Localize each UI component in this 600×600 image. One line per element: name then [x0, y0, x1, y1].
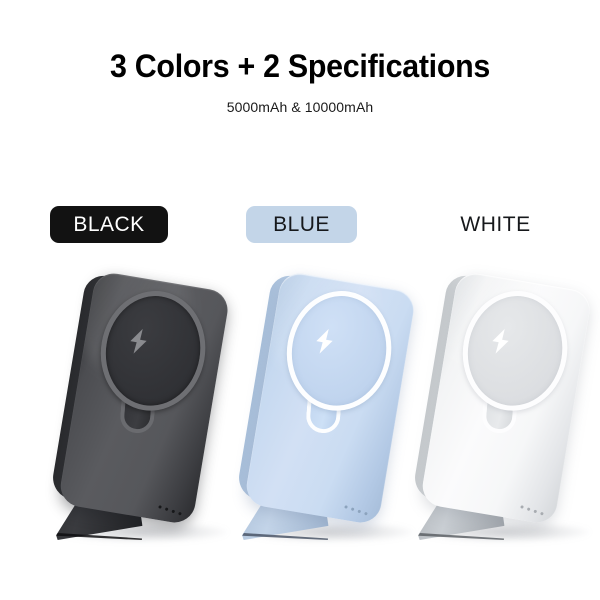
- led-indicator-row: [344, 505, 368, 515]
- page-title: 3 Colors + 2 Specifications: [15, 48, 585, 85]
- led-dot: [357, 510, 361, 514]
- color-label-black[interactable]: BLACK: [50, 206, 168, 243]
- led-dot: [171, 510, 175, 514]
- ring-outer-band: [92, 283, 214, 419]
- led-dot: [520, 505, 524, 509]
- led-dot: [533, 510, 537, 514]
- power-bank-body-black: [57, 270, 230, 527]
- ring-outer-band: [454, 283, 576, 419]
- lightning-bolt-icon: [311, 327, 337, 356]
- led-indicator-row: [520, 505, 544, 515]
- product-image-canvas: 3 Colors + 2 Specifications 5000mAh & 10…: [0, 0, 600, 600]
- lightning-bolt-icon: [125, 327, 151, 356]
- magsafe-charging-ring: [278, 283, 400, 419]
- led-dot: [351, 507, 355, 511]
- page-subtitle: 5000mAh & 10000mAh: [0, 99, 600, 115]
- product-unit-black[interactable]: [42, 278, 242, 548]
- ring-outer-band: [278, 283, 400, 419]
- power-bank-body-white: [419, 270, 592, 527]
- led-indicator-row: [158, 505, 182, 515]
- led-dot: [344, 505, 348, 509]
- color-label-blue[interactable]: BLUE: [246, 206, 357, 243]
- led-dot: [165, 507, 169, 511]
- power-bank-body-blue: [243, 270, 416, 527]
- color-label-white-text: WHITE: [460, 213, 530, 237]
- color-label-black-text: BLACK: [73, 213, 144, 237]
- led-dot: [158, 505, 162, 509]
- lightning-bolt-icon: [487, 327, 513, 356]
- product-unit-white[interactable]: [404, 278, 600, 548]
- led-dot: [178, 512, 182, 516]
- magsafe-charging-ring: [92, 283, 214, 419]
- magsafe-charging-ring: [454, 283, 576, 419]
- color-label-white[interactable]: WHITE: [440, 206, 551, 243]
- color-label-blue-text: BLUE: [273, 213, 330, 237]
- led-dot: [540, 512, 544, 516]
- product-unit-blue[interactable]: [228, 278, 428, 548]
- led-dot: [527, 507, 531, 511]
- led-dot: [364, 512, 368, 516]
